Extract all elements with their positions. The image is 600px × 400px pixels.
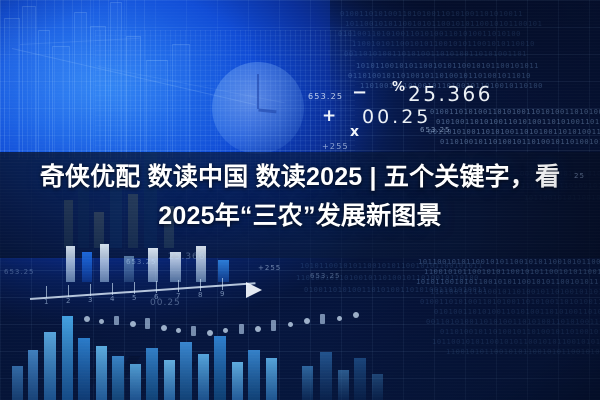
data-point-marker <box>288 322 293 327</box>
binary-texture: 01001101010011010100110101001101010011 <box>430 108 600 116</box>
chart-bar <box>266 358 277 400</box>
chart-bar-light <box>82 252 92 282</box>
data-point-marker <box>223 328 228 333</box>
binary-texture: 11001010110010101100101011001010110010 <box>446 348 600 356</box>
perspective-line <box>0 150 600 151</box>
axis-tick-label: 5 <box>132 294 137 302</box>
banner-image: 01001101010011010100110101001101010011 1… <box>0 0 600 400</box>
overlay-number-0025-lower: 00.25 <box>150 298 181 308</box>
chart-bar <box>164 360 175 400</box>
chart-bar <box>78 338 90 400</box>
data-point-marker <box>99 319 104 324</box>
chart-bar <box>130 364 141 400</box>
chart-bar-light <box>218 260 229 282</box>
binary-texture: 01001101010011010100110101001101010011 <box>420 298 600 306</box>
overlay-number-255: +255 <box>322 142 349 151</box>
data-point-marker <box>84 316 90 322</box>
candlestick-marker <box>145 318 150 329</box>
axis-tick-label: 1 <box>44 298 49 306</box>
chart-bar <box>248 350 260 400</box>
candlestick-marker <box>114 316 119 325</box>
wireframe-building <box>126 36 141 158</box>
wireframe-building <box>52 46 70 158</box>
binary-texture: 00110101001101010011010100110101001101 <box>426 318 600 326</box>
binary-texture: 1011001010110010101100101011001010110010… <box>432 338 600 346</box>
chart-bar <box>112 356 124 400</box>
wireframe-building <box>90 26 106 158</box>
binary-texture: 01010011010100110101001101010011010100 <box>434 308 600 316</box>
chart-bar <box>180 342 192 400</box>
chart-bar-dim <box>354 358 366 400</box>
chart-bar <box>146 348 158 400</box>
clock-minute-hand <box>257 74 259 109</box>
chart-bar <box>282 344 294 400</box>
binary-texture: 01101001011010010110100101101001011010 <box>440 328 600 336</box>
data-point-marker <box>176 328 181 333</box>
binary-texture: 01101001011010010110100101101001011010 <box>348 72 531 80</box>
overlay-percent-symbol: % <box>392 80 405 95</box>
wireframe-building <box>38 30 50 158</box>
trend-arrow-icon <box>246 282 262 298</box>
wireframe-building <box>4 18 20 158</box>
wireframe-building <box>110 2 122 158</box>
binary-texture: 01010011010100110101001101010011010100 <box>338 30 521 38</box>
axis-tick <box>156 281 157 293</box>
axis-tick-label: 3 <box>88 296 93 304</box>
data-point-marker <box>130 321 136 327</box>
chart-bar-dim <box>372 374 383 400</box>
axis-tick <box>178 280 179 292</box>
data-point-marker <box>353 312 359 318</box>
binary-texture: 01001101010011010100110101001101010011 <box>304 286 487 294</box>
page-title: 奇侠优配 数读中国 数读2025 | 五个关键字，看 2025年“三农”发展新图… <box>0 158 600 236</box>
axis-tick <box>200 279 201 291</box>
overlay-times-symbol: x <box>350 124 359 140</box>
axis-tick-label: 9 <box>220 290 225 298</box>
axis-tick <box>90 284 91 296</box>
data-point-marker <box>337 316 342 321</box>
binary-texture: 00110101001101010011010100110101001101 <box>428 128 600 136</box>
candlestick-marker <box>191 326 196 336</box>
axis-tick-label: 8 <box>198 291 203 299</box>
overlay-number-653: 653.25 <box>308 92 343 101</box>
chart-bar <box>198 354 209 400</box>
chart-bar <box>96 346 107 400</box>
binary-texture: 1011001010110010101100101011001010110010… <box>345 20 542 28</box>
wireframe-building <box>172 44 190 158</box>
binary-texture: 10101100101011001010110010101100101011 <box>356 62 539 70</box>
overlay-number-653-faint: 653.25 <box>420 126 451 134</box>
chart-bar-dim <box>302 366 313 400</box>
axis-tick <box>46 286 47 298</box>
chart-bar <box>232 362 243 400</box>
axis-tick <box>222 278 223 290</box>
chart-bar <box>62 316 73 400</box>
overlay-number-653-lower: 653.25 <box>126 258 157 266</box>
binary-texture: 10101100101011001010110010101100101011 <box>300 262 483 270</box>
wireframe-building <box>74 12 87 158</box>
chart-bar <box>28 350 38 400</box>
data-point-marker <box>255 326 261 332</box>
wireframe-building <box>146 60 168 158</box>
data-point-marker <box>304 318 310 324</box>
overlay-number-653-br: 653.25 <box>310 272 341 280</box>
binary-texture: 11001010110010101100101011001010110010 <box>352 40 535 48</box>
candlestick-marker <box>271 320 276 331</box>
chart-bar <box>214 336 226 400</box>
axis-tick <box>134 282 135 294</box>
clock-icon <box>212 62 304 154</box>
candlestick-marker <box>320 314 325 324</box>
chart-bar-dim <box>338 370 349 400</box>
chart-bar <box>44 332 56 400</box>
binary-texture: 01101001011010010110100101101001011010 <box>440 138 600 146</box>
axis-tick <box>112 283 113 295</box>
axis-tick-label: 2 <box>66 297 71 305</box>
chart-bar-dim <box>320 352 332 400</box>
overlay-number-25366: 25.366 <box>408 82 493 106</box>
data-point-marker <box>207 330 213 336</box>
binary-texture: 00110101001101010011010100110101001101 <box>344 50 527 58</box>
overlay-plus-symbol: + <box>322 106 336 126</box>
overlay-number-653-left: 653.25 <box>4 268 35 276</box>
candlestick-marker <box>239 324 244 334</box>
binary-texture: 01010011010100110101001101010011010100 <box>436 118 600 126</box>
binary-texture: 01001101010011010100110101001101010011 <box>340 10 523 18</box>
data-point-marker <box>161 325 167 331</box>
overlay-minus-symbol: − <box>352 82 367 103</box>
chart-bar-light <box>100 244 109 282</box>
overlay-number-25366-lower: 25.366 <box>168 252 206 262</box>
chart-bar-light <box>66 246 75 282</box>
chart-bar <box>12 366 23 400</box>
wireframe-building <box>22 6 36 158</box>
overlay-number-255-small: +255 <box>258 264 281 272</box>
axis-tick <box>68 285 69 297</box>
clock-hour-hand <box>258 109 276 114</box>
axis-tick-label: 4 <box>110 295 115 303</box>
overlay-number-0025: 00.25 <box>362 106 431 128</box>
